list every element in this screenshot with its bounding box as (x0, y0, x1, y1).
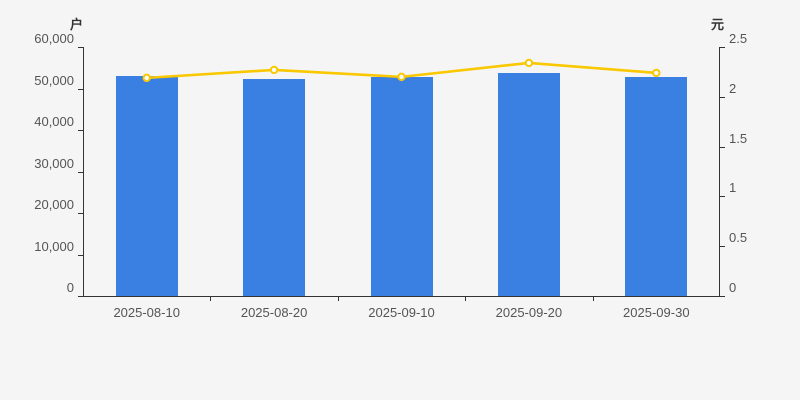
left-axis-unit-label: 户 (70, 18, 83, 31)
right-axis-unit-label: 元 (711, 18, 724, 31)
tick-mark (720, 147, 725, 148)
x-tick-label: 2025-08-20 (241, 305, 308, 320)
tick-mark (720, 47, 725, 48)
line-markers (144, 60, 660, 81)
tick-mark (720, 97, 725, 98)
line-marker[interactable] (271, 67, 277, 73)
line-marker[interactable] (398, 74, 404, 80)
tick-mark (720, 196, 725, 197)
line-marker[interactable] (144, 75, 150, 81)
line-series (83, 47, 720, 297)
x-tick-label: 2025-09-30 (623, 305, 690, 320)
x-tick-label: 2025-09-20 (496, 305, 563, 320)
line-marker[interactable] (526, 60, 532, 66)
chart-container: 户 元 010,00020,00030,00040,00050,00060,00… (0, 0, 800, 400)
x-tick-label: 2025-08-10 (113, 305, 180, 320)
line-marker[interactable] (653, 70, 659, 76)
plot-area: 010,00020,00030,00040,00050,00060,000 00… (83, 47, 720, 296)
tick-mark (720, 246, 725, 247)
x-tick-label: 2025-09-10 (368, 305, 435, 320)
tick-mark (720, 296, 725, 297)
